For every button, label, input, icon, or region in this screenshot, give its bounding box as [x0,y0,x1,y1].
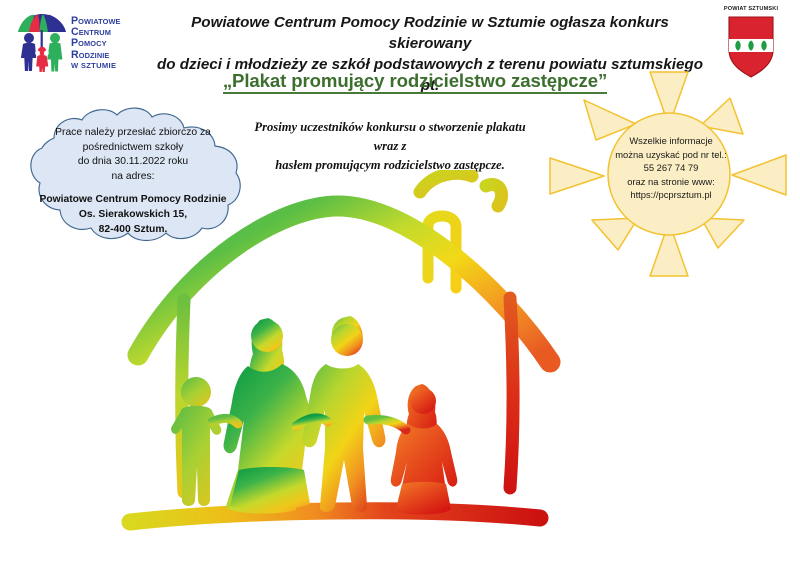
center-line-2: wraz z [220,137,560,156]
logo-line-powiatowe: POWIATOWE [71,16,149,27]
logo-line-centrum: CENTRUM [71,27,149,38]
sun-line-1: Wszelkie informacje [596,134,746,148]
cloud-line-1: Prace należy przesłać zbiorczo za [22,126,244,141]
silhouette-girl [391,384,458,515]
cloud-line-2: pośrednictwem szkoły [22,141,244,156]
arm-boy-mother [212,418,238,424]
logo-line-pomocy: POMOCY [71,38,149,49]
poster-canvas: POWIATOWE CENTRUM POMOCY RODZINIE W SZTU… [0,0,800,565]
house-family-illustration [120,170,680,565]
logo-line-rodzinie: RODZINIE [71,50,149,61]
pcpr-logo-mark [14,12,70,74]
smoke-puff-lower [486,185,502,206]
silhouette-mother [224,318,318,513]
floor [130,511,540,522]
pcpr-logo-wordmark: POWIATOWE CENTRUM POMOCY RODZINIE W SZTU… [71,16,149,74]
header-line-1: Powiatowe Centrum Pomocy Rodzinie w Sztu… [150,12,710,54]
cloud-line-3: do dnia 30.11.2022 roku [22,155,244,170]
house-family-graphic [120,170,680,565]
center-message: Prosimy uczestników konkursu o stworzeni… [220,118,560,174]
right-wall [510,298,513,488]
smoke-puff-upper [420,173,472,192]
coat-of-arms-label: POWIAT SZTUMSKI [712,6,790,12]
center-line-1: Prosimy uczestników konkursu o stworzeni… [220,118,560,137]
pcpr-logo: POWIATOWE CENTRUM POMOCY RODZINIE W SZTU… [14,12,146,74]
logo-line-w-sztumie: W SZTUMIE [71,61,149,71]
sun-line-2: można uzyskać pod nr tel.: [596,148,746,162]
